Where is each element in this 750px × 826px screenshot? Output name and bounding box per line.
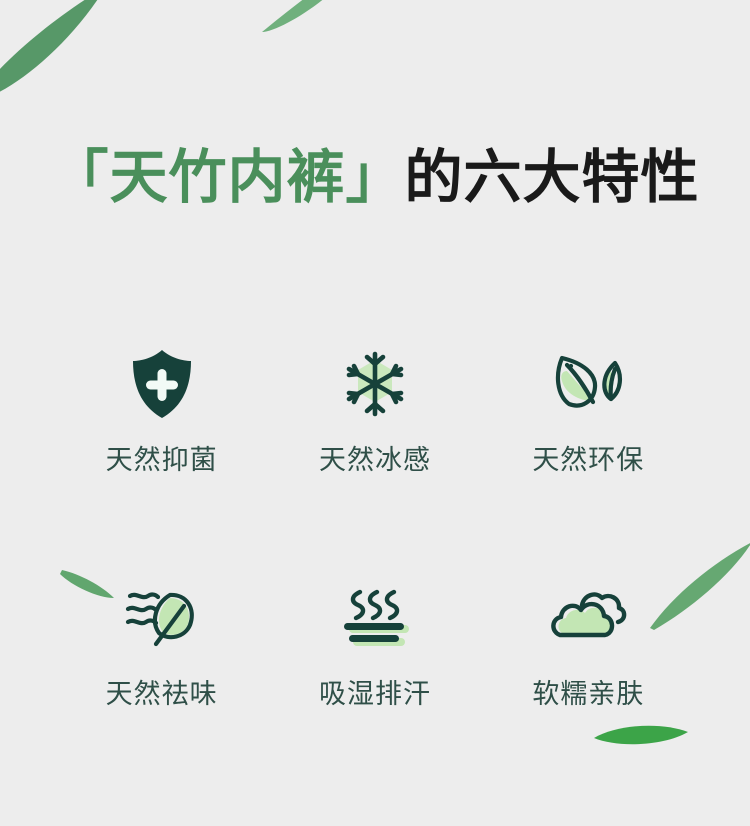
leaf-breeze-icon <box>116 572 208 664</box>
page-title: 「天竹内裤」的六大特性 <box>0 145 750 211</box>
feature-item-eco: 天然环保 <box>482 338 695 476</box>
feature-label: 吸湿排汗 <box>319 678 431 710</box>
snowflake-icon <box>329 338 421 430</box>
feature-label: 天然祛味 <box>106 678 218 710</box>
feature-item-soft: 软糯亲肤 <box>482 572 695 710</box>
steam-lines-icon <box>329 572 421 664</box>
feature-grid: 天然抑菌 <box>55 338 695 710</box>
page-title-highlight: 「天竹内裤」 <box>50 145 404 210</box>
clouds-icon <box>542 572 634 664</box>
feature-item-deodorizing: 天然祛味 <box>55 572 268 710</box>
feature-item-wicking: 吸湿排汗 <box>268 572 481 710</box>
two-leaves-icon <box>542 338 634 430</box>
bamboo-leaf-top-center <box>226 0 346 54</box>
feature-item-cooling: 天然冰感 <box>268 338 481 476</box>
bamboo-leaf-top-left <box>0 0 112 110</box>
page-title-rest: 的六大特性 <box>405 145 700 210</box>
feature-item-antibacterial: 天然抑菌 <box>55 338 268 476</box>
feature-label: 天然环保 <box>532 444 644 476</box>
feature-label: 软糯亲肤 <box>532 678 644 710</box>
bamboo-leaf-bottom-right <box>592 716 702 756</box>
shield-plus-icon <box>116 338 208 430</box>
feature-label: 天然抑菌 <box>106 444 218 476</box>
promo-page: 「天竹内裤」的六大特性 天然抑菌 <box>0 0 750 826</box>
feature-label: 天然冰感 <box>319 444 431 476</box>
